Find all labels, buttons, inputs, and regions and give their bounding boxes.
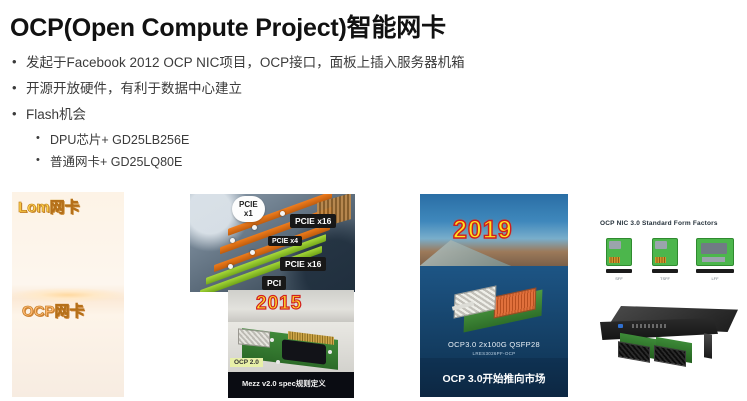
form-factor-label: TSFF (652, 276, 678, 281)
page-title: OCP(Open Compute Project)智能网卡 (10, 8, 446, 44)
form-factor-label: SFF (606, 276, 632, 281)
slot-tag-pci: PCI (262, 276, 286, 290)
year-label-2019: 2019 (453, 216, 513, 245)
ocp3-model-number: LRES3026PF-OCP (420, 351, 568, 356)
form-factors-title: OCP NIC 3.0 Standard Form Factors (600, 220, 718, 227)
callout-line-2: x1 (239, 209, 258, 218)
slot-tag-pcie-x16-upper: PCIE x16 (290, 214, 336, 228)
bullet-item: Flash机会 (8, 107, 728, 124)
bullet-item: 发起于Facebook 2012 OCP NIC项目，OCP接口，面板上插入服务… (8, 55, 728, 72)
ocp-nic-label: OCP网卡 (22, 300, 85, 321)
ocp3-card-illustration (450, 286, 546, 336)
mezz-caption: Mezz v2.0 spec规则定义 (242, 378, 326, 389)
lom-nic-label: Lom网卡 (18, 196, 80, 217)
ocp-2-badge: OCP 2.0 (230, 358, 263, 367)
slot-clip (228, 264, 233, 269)
slot-clip (230, 238, 235, 243)
bullet-item: 开源开放硬件，有利于数据中心建立 (8, 81, 728, 98)
lom-vs-ocp-nic-photo: 可以替换的Lom网卡 (12, 192, 124, 397)
bullet-subitem: DPU芯片+ GD25LB256E (8, 133, 728, 149)
bullet-subitem: 普通网卡+ GD25LQ80E (8, 155, 728, 171)
server-chassis-illustration (594, 302, 742, 376)
motherboard-pcie-slots-photo: PCIE x1 PCIE x16 PCIE x4 PCIE x16 PCI (190, 194, 355, 292)
form-factor-sff: SFF (606, 238, 632, 281)
slot-tag-pcie-x16-lower: PCIE x16 (280, 257, 326, 271)
form-factor-label: LFF (696, 276, 734, 281)
slide-canvas: OCP(Open Compute Project)智能网卡 发起于Faceboo… (0, 0, 747, 401)
pcie-x1-callout: PCIE x1 (232, 196, 265, 222)
slot-clip (250, 250, 255, 255)
callout-line-1: PCIE (239, 200, 258, 209)
ocp-nic-3-form-factors-diagram: OCP NIC 3.0 Standard Form Factors SFF TS… (592, 210, 744, 398)
form-factor-lff: LFF (696, 238, 734, 281)
slot-tag-pcie-x4: PCIE x4 (268, 236, 302, 246)
ocp-mezz-2015-photo: 2015 OCP 2.0 Mezz v2.0 spec规则定义 (228, 290, 354, 398)
bullet-list: 发起于Facebook 2012 OCP NIC项目，OCP接口，面板上插入服务… (8, 55, 728, 178)
ocp3-2019-photo: 2019 OCP3.0 2x100G QSFP28 LRES3026PF-OCP… (420, 194, 568, 397)
year-label-2015: 2015 (256, 293, 302, 315)
slot-clip (252, 225, 257, 230)
ocp3-spec-text: OCP3.0 2x100G QSFP28 (420, 340, 568, 349)
ocp3-caption: OCP 3.0开始推向市场 (420, 371, 568, 386)
slot-clip (280, 211, 285, 216)
form-factor-tsff: TSFF (652, 238, 678, 281)
